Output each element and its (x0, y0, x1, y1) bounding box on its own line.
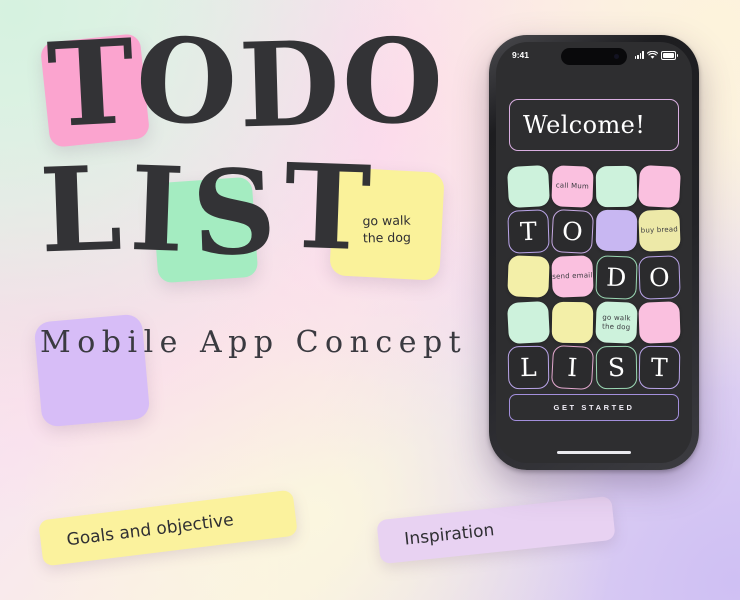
grid-letter-tile[interactable]: O (639, 255, 681, 299)
welcome-title: Welcome! (523, 111, 645, 139)
page-subtitle: Mobile App Concept (40, 325, 467, 360)
status-icons (635, 51, 676, 60)
note-grid: call MumTObuy breadsend emailDOgo walkth… (508, 166, 680, 389)
grid-task-note[interactable]: go walkthe dog (595, 301, 637, 343)
grid-blank-note[interactable] (507, 255, 549, 297)
wifi-icon (647, 51, 658, 60)
grid-letter-tile[interactable]: D (595, 255, 637, 299)
status-bar: 9:41 (496, 42, 692, 68)
label-note-goals-text: Goals and objective (66, 510, 235, 550)
grid-blank-note[interactable] (595, 166, 636, 208)
grid-task-note[interactable]: buy bread (639, 209, 681, 251)
page-title-list: LIST (40, 152, 378, 268)
grid-blank-note[interactable] (639, 301, 681, 343)
grid-blank-note[interactable] (638, 165, 681, 208)
page-title-todo: TODO (48, 24, 445, 140)
grid-blank-note[interactable] (507, 301, 550, 344)
grid-letter-tile[interactable]: O (551, 209, 594, 254)
grid-blank-note[interactable] (507, 165, 550, 208)
welcome-card: Welcome! (509, 99, 679, 151)
grid-letter-tile[interactable]: T (639, 346, 680, 390)
battery-full-icon (661, 51, 676, 60)
grid-task-note[interactable]: send email (551, 255, 593, 297)
phone-screen: 9:41 Welcome! call MumTObuy breadsend em… (496, 42, 692, 463)
dynamic-island (561, 48, 627, 65)
grid-letter-tile[interactable]: S (595, 346, 636, 390)
grid-task-note[interactable]: call Mum (551, 165, 593, 207)
home-indicator (557, 451, 631, 455)
grid-task-text: call Mum (555, 181, 588, 191)
grid-task-text: buy bread (641, 225, 679, 235)
get-started-button[interactable]: GET STARTED (509, 394, 679, 421)
grid-blank-note[interactable] (551, 302, 592, 344)
grid-letter-tile[interactable]: I (551, 345, 594, 390)
cellular-bars-icon (635, 51, 644, 59)
poster-canvas: go walkthe dog TODO LIST Mobile App Conc… (0, 0, 740, 600)
grid-task-text: go walkthe dog (601, 313, 630, 332)
grid-blank-note[interactable] (595, 210, 636, 252)
status-time: 9:41 (512, 50, 529, 60)
grid-letter-tile[interactable]: T (507, 209, 549, 253)
phone-mockup: 9:41 Welcome! call MumTObuy breadsend em… (489, 35, 699, 470)
label-note-inspiration-text: Inspiration (403, 520, 495, 549)
grid-task-text: send email (552, 271, 593, 281)
grid-letter-tile[interactable]: L (508, 346, 549, 390)
